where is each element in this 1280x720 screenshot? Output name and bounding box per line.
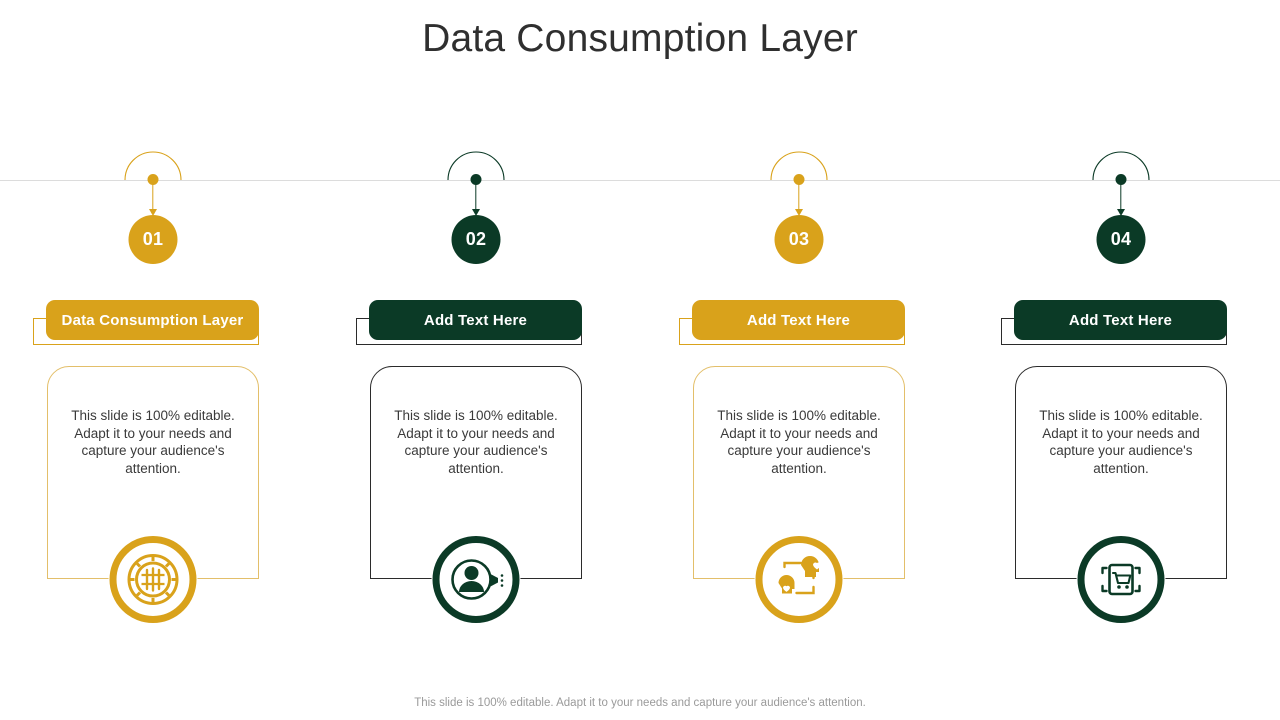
icon-badge-3[interactable] <box>755 535 844 624</box>
step-number-badge-4[interactable]: 04 <box>1097 215 1146 264</box>
marker-cluster-2 <box>446 148 506 218</box>
video-person-icon <box>432 535 521 624</box>
banner-3[interactable]: Add Text Here <box>679 300 919 352</box>
banner-1[interactable]: Data Consumption Layer <box>33 300 273 352</box>
knowledge-sharing-heads-icon <box>755 535 844 624</box>
card-body-text-1: This slide is 100% editable. Adapt it to… <box>65 407 241 477</box>
column-2: 02 Add Text Here This slide is 100% edit… <box>326 0 626 720</box>
arrow-stem <box>1120 182 1121 212</box>
marker-cluster-1 <box>123 148 183 218</box>
icon-badge-2[interactable] <box>432 535 521 624</box>
arrow-stem <box>475 182 476 212</box>
arrow-stem <box>798 182 799 212</box>
banner-label-4: Add Text Here <box>1014 300 1227 340</box>
column-3: 03 Add Text Here This slide is 100% edit… <box>649 0 949 720</box>
column-1: 01 Data Consumption Layer This slide is … <box>3 0 303 720</box>
mobile-shopping-cart-icon <box>1077 535 1166 624</box>
card-body-text-3: This slide is 100% editable. Adapt it to… <box>711 407 887 477</box>
slide-canvas: Data Consumption Layer 01 Data Consumpti… <box>0 0 1280 720</box>
marker-cluster-4 <box>1091 148 1151 218</box>
banner-label-2: Add Text Here <box>369 300 582 340</box>
column-4: 04 Add Text Here This slide is 100% edit… <box>971 0 1271 720</box>
banner-label-3: Add Text Here <box>692 300 905 340</box>
banner-label-1: Data Consumption Layer <box>46 300 259 340</box>
step-number-label: 03 <box>789 229 810 250</box>
step-number-badge-2[interactable]: 02 <box>452 215 501 264</box>
slide-footer-note: This slide is 100% editable. Adapt it to… <box>0 697 1280 709</box>
gear-data-icon <box>109 535 198 624</box>
arrow-stem <box>152 182 153 212</box>
banner-2[interactable]: Add Text Here <box>356 300 596 352</box>
card-body-text-2: This slide is 100% editable. Adapt it to… <box>388 407 564 477</box>
step-number-badge-3[interactable]: 03 <box>775 215 824 264</box>
step-number-label: 04 <box>1111 229 1132 250</box>
banner-4[interactable]: Add Text Here <box>1001 300 1241 352</box>
step-number-label: 01 <box>143 229 164 250</box>
icon-badge-1[interactable] <box>109 535 198 624</box>
icon-badge-4[interactable] <box>1077 535 1166 624</box>
step-number-badge-1[interactable]: 01 <box>129 215 178 264</box>
card-body-text-4: This slide is 100% editable. Adapt it to… <box>1033 407 1209 477</box>
step-number-label: 02 <box>466 229 487 250</box>
marker-cluster-3 <box>769 148 829 218</box>
